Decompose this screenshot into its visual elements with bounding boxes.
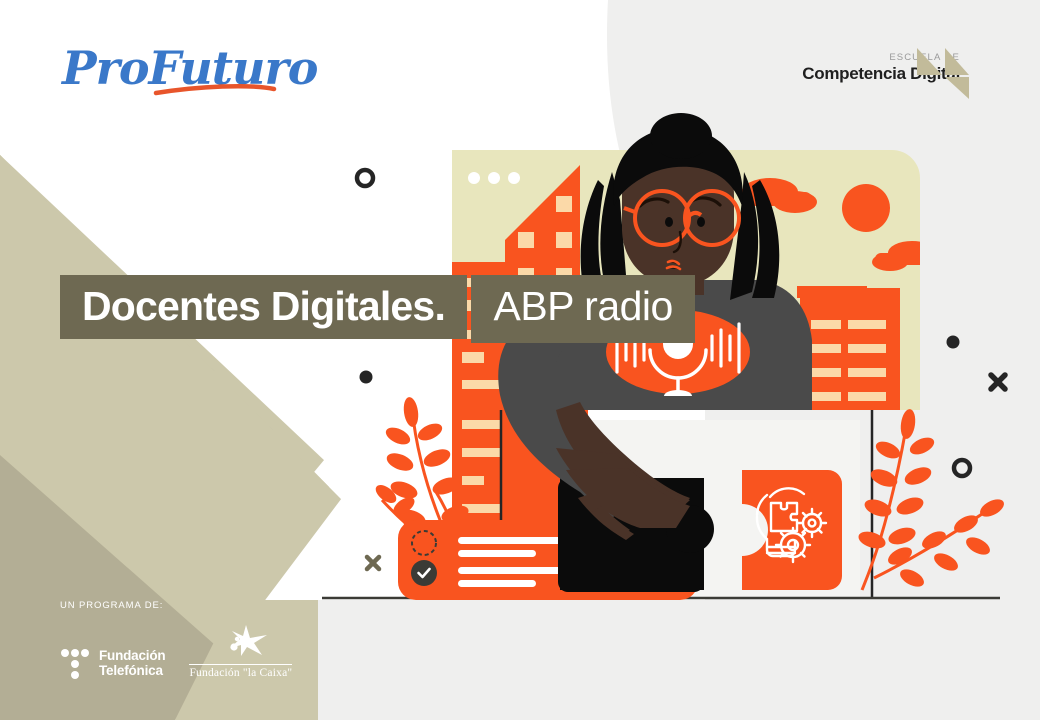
eye-right <box>697 217 705 227</box>
browser-dot <box>508 172 520 184</box>
telefonica-line1: Fundación <box>99 648 165 663</box>
title-line-2: ABP radio <box>471 275 694 343</box>
sponsor-label: UN PROGRAMA DE: <box>60 600 360 611</box>
caixa-star-icon <box>210 623 272 657</box>
building-right-top <box>797 286 867 298</box>
hair-bun <box>650 113 712 159</box>
slide-canvas: ProFuturo ESCUELA DE Competencia Digital… <box>0 0 1040 720</box>
sponsor-row: Fundación Telefónica Fundación "la Caixa… <box>60 623 360 679</box>
telefonica-wordmark: Fundación Telefónica <box>99 648 165 678</box>
title-line-1: Docentes Digitales. <box>60 275 467 339</box>
browser-dot <box>468 172 480 184</box>
deco-dot-1 <box>360 371 373 384</box>
browser-dot <box>488 172 500 184</box>
telefonica-line2: Telefónica <box>99 663 165 678</box>
check-badge <box>411 560 437 586</box>
telefonica-dots-icon <box>60 647 90 679</box>
sponsor-block: UN PROGRAMA DE: Fundación Telefónica <box>60 600 360 679</box>
profuturo-logo-svg: ProFuturo <box>60 38 330 102</box>
profuturo-logo[interactable]: ProFuturo <box>60 38 330 102</box>
pinwheel-tri-top-right <box>945 48 969 75</box>
pinwheel-triangles-icon <box>915 43 971 101</box>
deco-dot-2 <box>947 336 960 349</box>
caixa-wordmark: Fundación "la Caixa" <box>189 664 292 679</box>
eye-left <box>665 217 673 227</box>
fundacion-telefonica-logo[interactable]: Fundación Telefónica <box>60 647 165 679</box>
sun-circle <box>842 184 890 232</box>
fundacion-la-caixa-logo[interactable]: Fundación "la Caixa" <box>189 623 292 679</box>
card-line <box>458 550 536 557</box>
pinwheel-tri-top-left <box>917 48 942 75</box>
card-line <box>458 580 536 587</box>
page-title: Docentes Digitales. ABP radio <box>60 275 695 343</box>
